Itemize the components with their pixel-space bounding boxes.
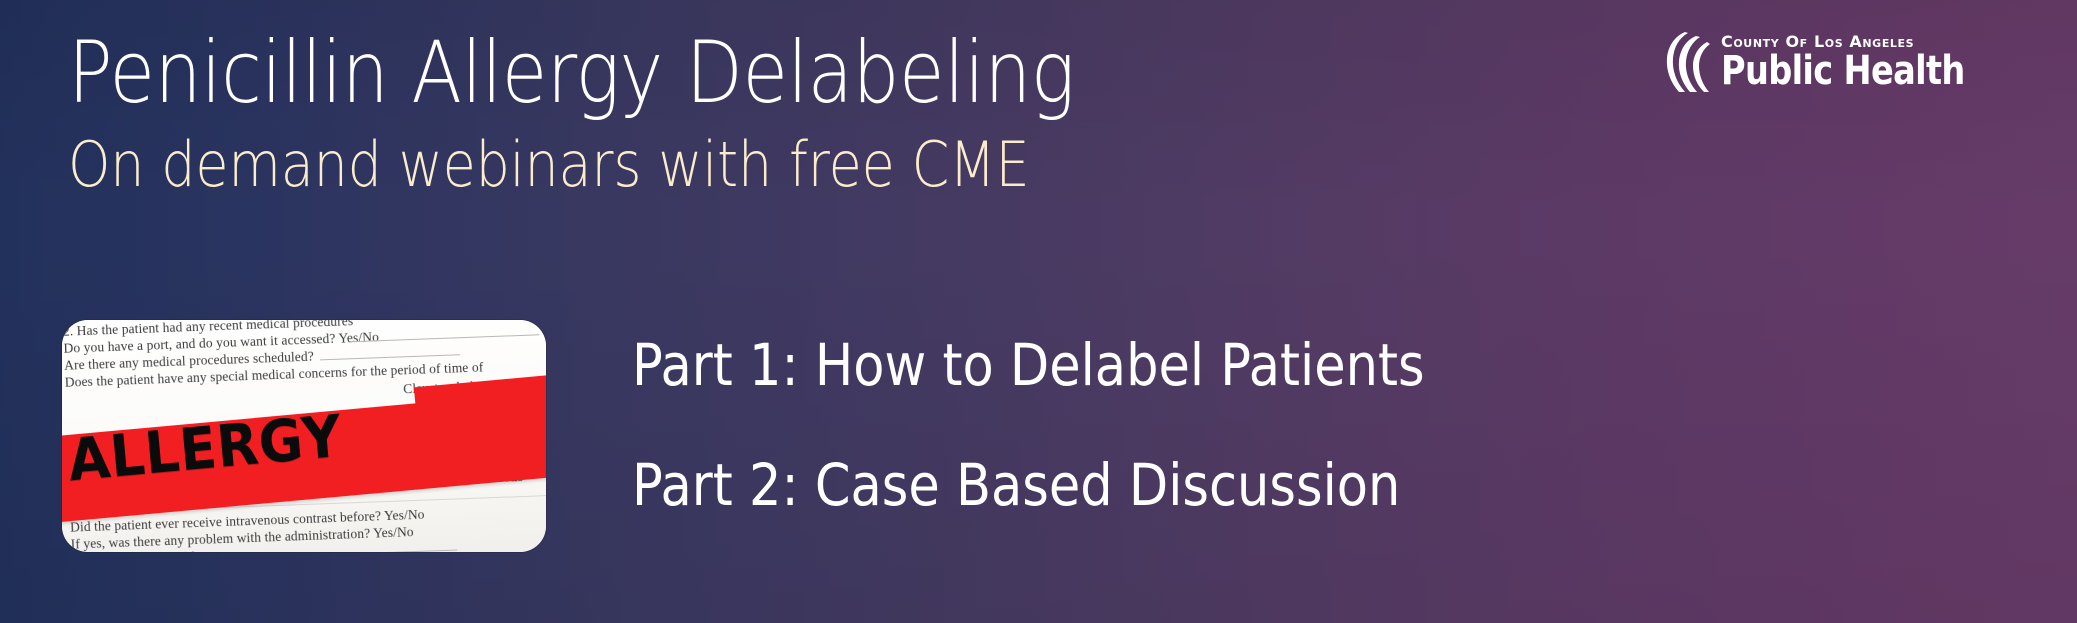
webinar-parts-list: Part 1: How to Delabel Patients Part 2: …: [632, 336, 1533, 514]
page-title: Penicillin Allergy Delabeling: [68, 30, 1075, 116]
logo-line-public-health: Public Health: [1721, 53, 1965, 90]
page-subtitle: On demand webinars with free CME: [68, 134, 1086, 196]
public-health-profiles-icon: [1663, 30, 1711, 94]
logo-wordmark: County of Los Angeles Public Health: [1721, 34, 2011, 90]
headline-block: Penicillin Allergy Delabeling On demand …: [68, 30, 1239, 196]
part-2-label: Part 2: Case Based Discussion: [632, 456, 1425, 514]
part-1-label: Part 1: How to Delabel Patients: [632, 336, 1425, 394]
form-blank-rule: [320, 354, 460, 360]
allergy-form-photo: 2. Has the patient had any recent medica…: [62, 320, 546, 552]
form-blank-rule: [337, 550, 457, 552]
webinar-promo-banner: Penicillin Allergy Delabeling On demand …: [0, 0, 2077, 623]
la-county-public-health-logo: County of Los Angeles Public Health: [1663, 30, 2011, 94]
form-paper: 2. Has the patient had any recent medica…: [62, 320, 546, 552]
